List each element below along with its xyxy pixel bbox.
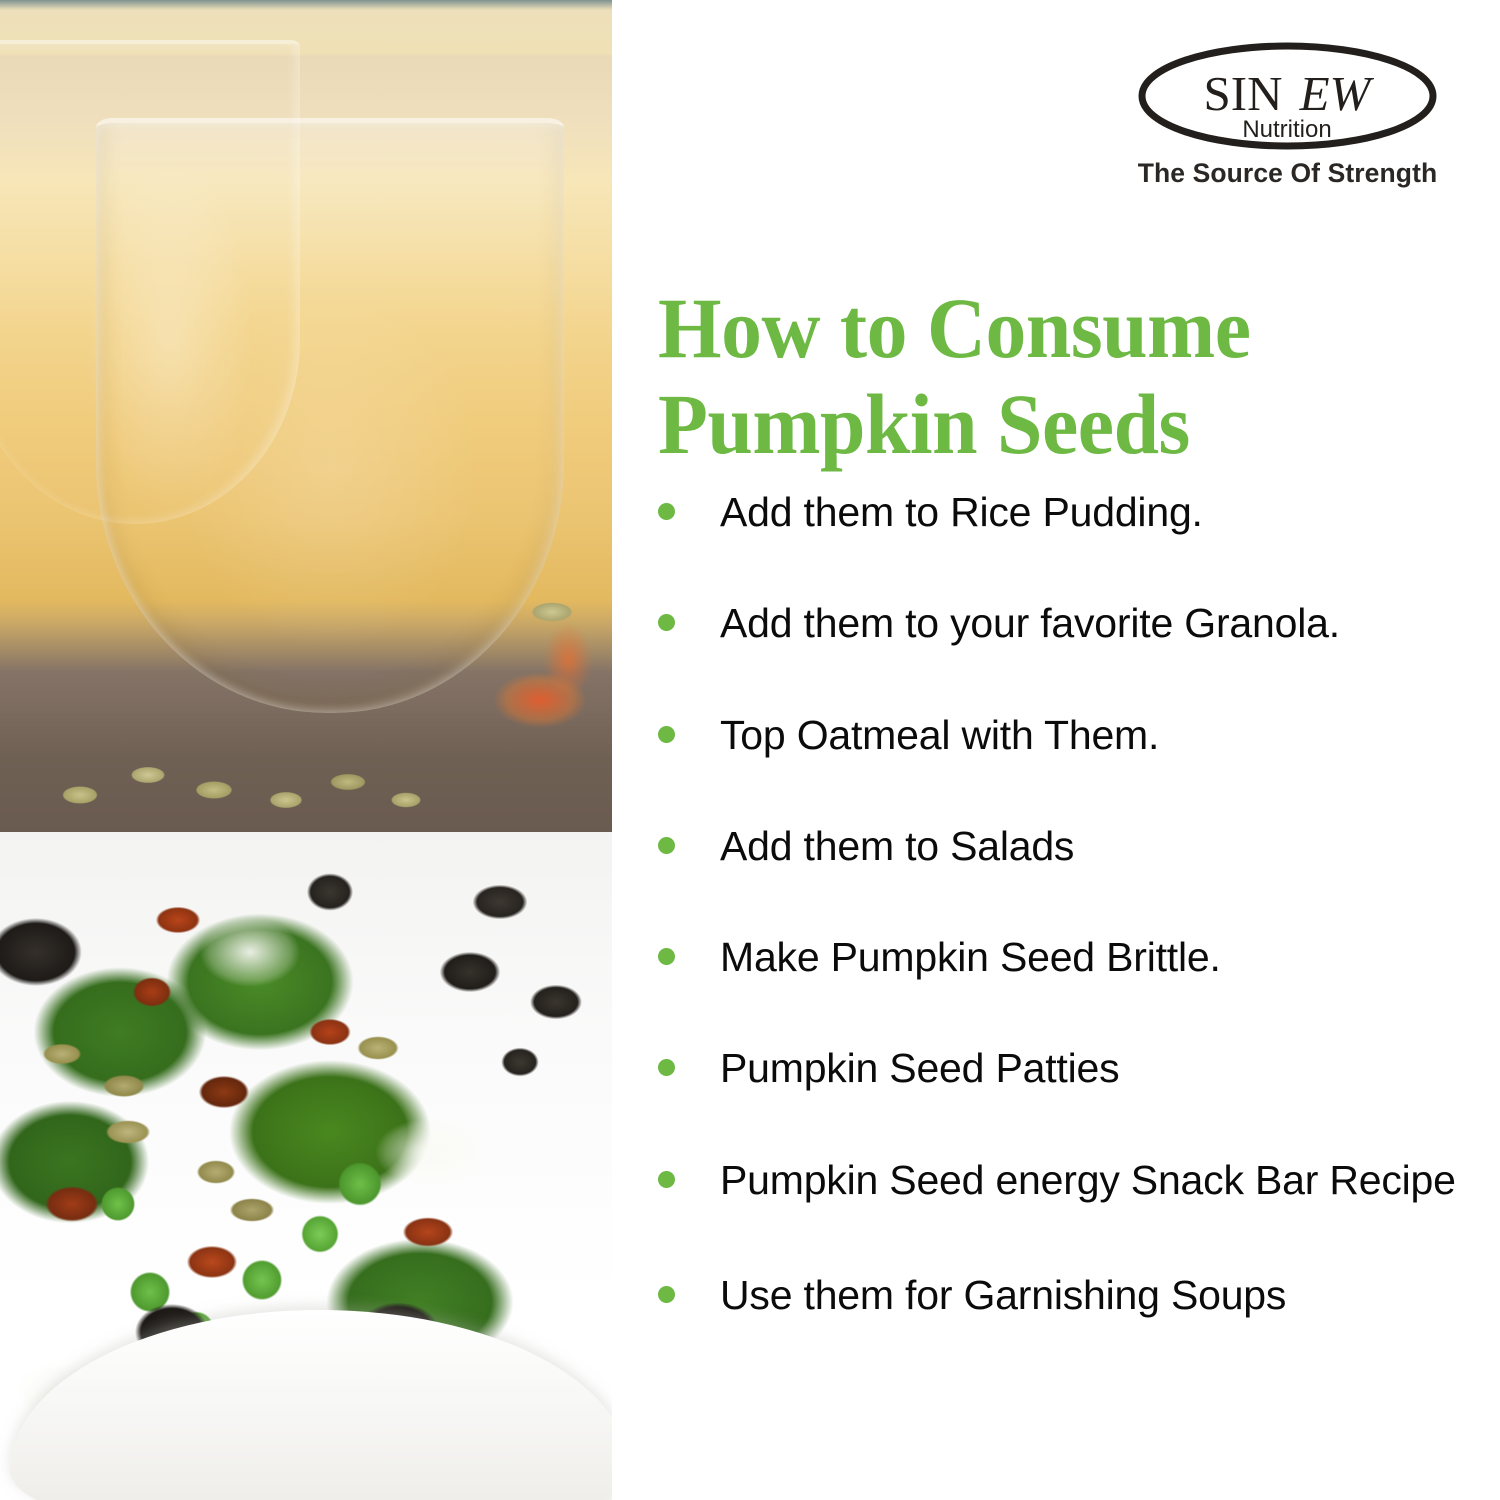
list-item-label: Add them to your favorite Granola. xyxy=(720,597,1488,650)
list-item: Add them to your favorite Granola. xyxy=(658,597,1488,650)
bullet-dot-icon xyxy=(658,614,675,631)
list-item-label: Top Oatmeal with Them. xyxy=(720,709,1488,762)
list-item-label: Pumpkin Seed energy Snack Bar Recipe xyxy=(720,1154,1488,1207)
tips-list: Add them to Rice Pudding. Add them to yo… xyxy=(658,486,1488,1322)
brand-tagline: The Source Of Strength xyxy=(1135,158,1440,189)
bullet-dot-icon xyxy=(658,1171,675,1188)
bullet-dot-icon xyxy=(658,726,675,743)
logo-sin-text: SIN xyxy=(1204,66,1283,121)
logo-lens-icon: SIN EW Nutrition xyxy=(1135,40,1440,152)
bullet-dot-icon xyxy=(658,837,675,854)
bullet-dot-icon xyxy=(658,1286,675,1303)
list-item: Top Oatmeal with Them. xyxy=(658,709,1488,762)
logo-ew-text: EW xyxy=(1299,66,1375,121)
list-item: Add them to Rice Pudding. xyxy=(658,486,1488,539)
list-item: Add them to Salads xyxy=(658,820,1488,873)
brand-logo: SIN EW Nutrition The Source Of Strength xyxy=(1135,40,1440,189)
salad-bowl-rim xyxy=(10,1310,612,1500)
bullet-dot-icon xyxy=(658,1059,675,1076)
list-item: Use them for Garnishing Soups xyxy=(658,1269,1488,1322)
list-item-label: Make Pumpkin Seed Brittle. xyxy=(720,931,1488,984)
list-item-label: Add them to Rice Pudding. xyxy=(720,486,1488,539)
page-title: How to Consume Pumpkin Seeds xyxy=(658,280,1437,473)
poster-canvas: SIN EW Nutrition The Source Of Strength … xyxy=(0,0,1500,1500)
list-item-label: Use them for Garnishing Soups xyxy=(720,1269,1488,1322)
list-item-label: Pumpkin Seed Patties xyxy=(720,1042,1488,1095)
front-glass-shape xyxy=(96,118,564,713)
broccoli-pea-salad-photo xyxy=(0,832,612,1500)
list-item: Pumpkin Seed energy Snack Bar Recipe xyxy=(658,1154,1488,1207)
page-title-line-2: Pumpkin Seeds xyxy=(658,376,1437,472)
list-item: Make Pumpkin Seed Brittle. xyxy=(658,931,1488,984)
page-title-line-1: How to Consume xyxy=(658,280,1437,376)
pumpkin-smoothie-photo xyxy=(0,0,612,832)
list-item-label: Add them to Salads xyxy=(720,820,1488,873)
photo-column xyxy=(0,0,612,1500)
list-item: Pumpkin Seed Patties xyxy=(658,1042,1488,1095)
bullet-dot-icon xyxy=(658,948,675,965)
content-column: SIN EW Nutrition The Source Of Strength … xyxy=(612,0,1500,1500)
logo-nutrition-text: Nutrition xyxy=(1242,116,1331,143)
bullet-dot-icon xyxy=(658,503,675,520)
